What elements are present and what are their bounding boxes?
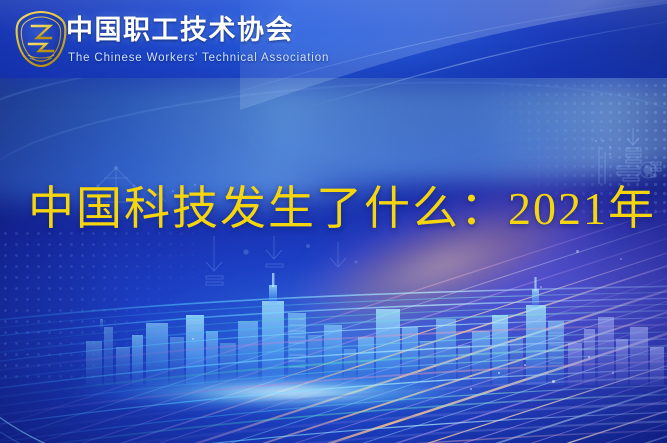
sparkle-particle <box>620 258 622 260</box>
page-title: 中国科技发生了什么：2021年 <box>28 182 656 236</box>
sparkle-particle <box>470 388 472 390</box>
sparkle-particle <box>192 338 194 340</box>
org-logo <box>13 8 69 70</box>
sparkle-particle <box>540 286 542 288</box>
sparkle-particle <box>588 356 590 358</box>
org-name-en: The Chinese Workers' Technical Associati… <box>68 53 329 65</box>
promotional-banner: 中国职工技术协会 The Chinese Workers' Technical … <box>0 0 667 443</box>
sparkle-particle <box>524 364 526 366</box>
sparkle-particle <box>552 380 555 383</box>
sparkle-particle <box>576 250 579 253</box>
org-name-cn: 中国职工技术协会 <box>66 17 294 44</box>
sparkle-particle <box>498 372 500 374</box>
sparkle-particle <box>612 372 614 374</box>
bottom-light-streaks <box>0 283 667 443</box>
shield-monogram-icon <box>13 8 69 70</box>
